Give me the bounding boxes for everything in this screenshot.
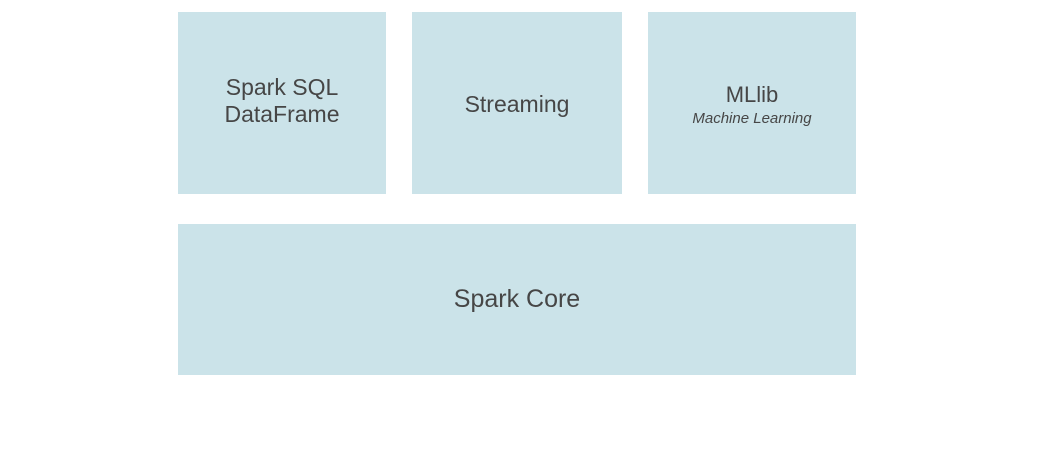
stack-box-streaming[interactable]: Streaming	[412, 12, 622, 194]
spark-core-title: Spark Core	[184, 285, 850, 315]
spark-sql-text-block: Spark SQL DataFrame	[178, 74, 386, 128]
stack-box-mllib[interactable]: MLlib Machine Learning	[648, 12, 856, 194]
streaming-title: Streaming	[418, 91, 616, 118]
mllib-title: MLlib	[654, 82, 850, 108]
streaming-text-block: Streaming	[412, 91, 622, 118]
mllib-subtitle: Machine Learning	[654, 110, 850, 128]
spark-stack-diagram: Spark SQL DataFrame Streaming MLlib Mach…	[0, 0, 1053, 457]
mllib-text-block: MLlib Machine Learning	[648, 82, 856, 128]
stack-box-spark-core[interactable]: Spark Core	[178, 224, 856, 375]
spark-sql-title-line1: Spark SQL	[184, 74, 380, 101]
spark-sql-title-line2: DataFrame	[184, 101, 380, 128]
spark-core-text-block: Spark Core	[178, 285, 856, 315]
stack-box-spark-sql[interactable]: Spark SQL DataFrame	[178, 12, 386, 194]
